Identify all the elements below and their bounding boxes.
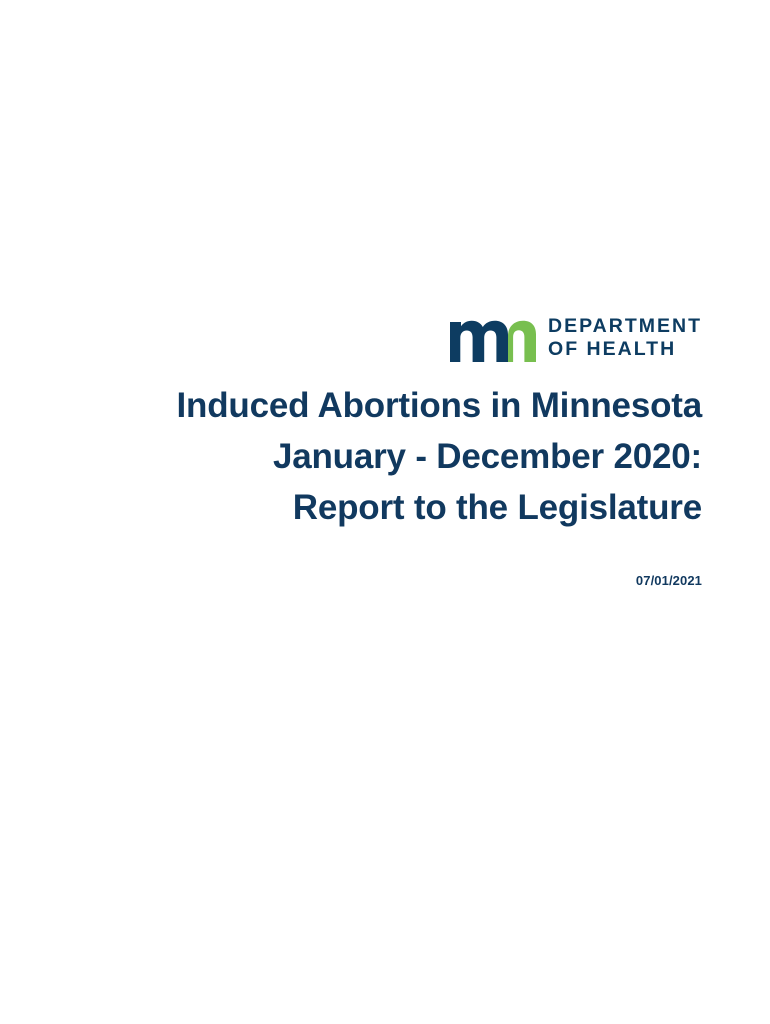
mdh-logo: DEPARTMENT OF HEALTH [450, 310, 702, 362]
wordmark-line-department: DEPARTMENT [548, 315, 702, 338]
cover-title-block: DEPARTMENT OF HEALTH Induced Abortions i… [60, 310, 702, 589]
title-line-2: January - December 2020: [60, 431, 702, 482]
title-line-3: Report to the Legislature [60, 482, 702, 533]
wordmark-line-of-health: OF HEALTH [548, 338, 702, 361]
document-title: Induced Abortions in Minnesota January -… [60, 380, 702, 533]
mn-state-logo-mark-icon [450, 310, 536, 362]
mdh-wordmark: DEPARTMENT OF HEALTH [548, 310, 702, 364]
document-page: DEPARTMENT OF HEALTH Induced Abortions i… [0, 0, 770, 1024]
document-date: 07/01/2021 [60, 573, 702, 589]
title-line-1: Induced Abortions in Minnesota [60, 380, 702, 431]
